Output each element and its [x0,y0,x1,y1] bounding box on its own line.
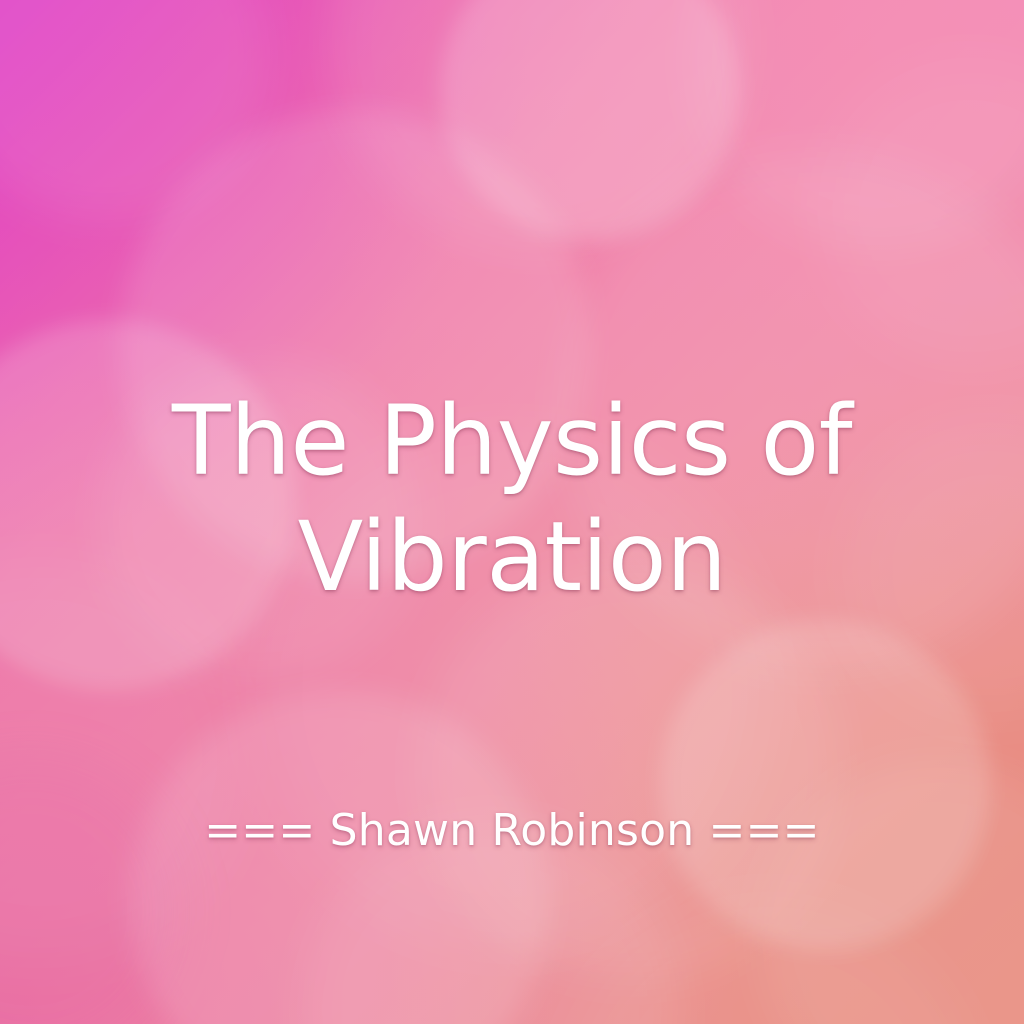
book-cover: The Physics of Vibration === Shawn Robin… [0,0,1024,1024]
cover-author-byline: === Shawn Robinson === [0,805,1024,857]
cover-content: The Physics of Vibration === Shawn Robin… [0,0,1024,1024]
cover-title: The Physics of Vibration [0,383,1024,615]
